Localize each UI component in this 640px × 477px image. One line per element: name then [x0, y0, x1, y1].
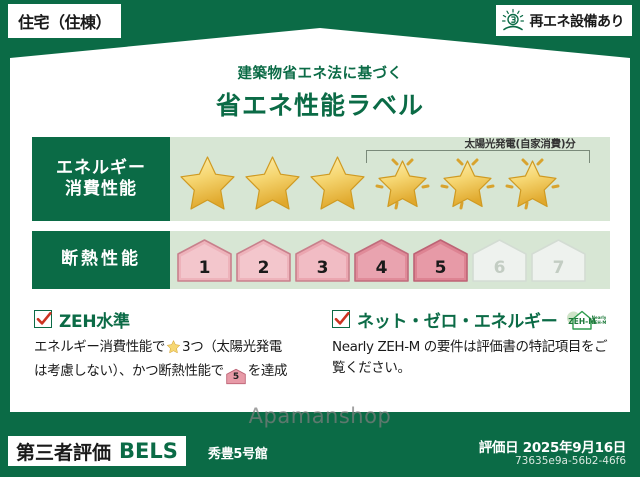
insulation-grade-6: 6	[471, 238, 528, 283]
building-name: 秀豊5号館	[208, 443, 268, 462]
checkbox-checked-icon	[332, 310, 350, 328]
insulation-grade-1: 1	[176, 238, 233, 283]
star-icon-solar	[501, 152, 564, 212]
renewable-equipment-tag: 再エネ設備あり	[496, 5, 633, 36]
star-icon-solar	[436, 152, 499, 212]
solar-generation-note: 太陽光発電(自家消費)分	[405, 136, 635, 151]
net-zero-energy-panel: ネット・ゼロ・エネルギー ZEH-M Nearly ZEH-M Nearly Z…	[332, 308, 616, 379]
inline-star-icon	[166, 339, 181, 361]
zeh-body-part2: 3つ（太陽光発電	[182, 339, 282, 355]
nze-panel-header: ネット・ゼロ・エネルギー ZEH-M Nearly ZEH-M	[332, 308, 616, 330]
insulation-label-text: 断熱性能	[61, 249, 141, 270]
zeh-standard-panel: ZEH水準 エネルギー消費性能で3つ（太陽光発電 は考慮しない）、かつ断熱性能で…	[34, 308, 318, 384]
insulation-row-label: 断熱性能	[32, 231, 170, 289]
insulation-grade-3-value: 3	[317, 258, 329, 278]
zeh-panel-header: ZEH水準	[34, 308, 318, 330]
housing-type-tag: 住宅（住棟）	[8, 4, 121, 38]
star-icon	[241, 152, 304, 212]
renewable-equipment-label: 再エネ設備あり	[530, 11, 625, 31]
insulation-grade-scale: 1 2 3	[176, 236, 587, 284]
insulation-grade-2: 2	[235, 238, 292, 283]
page-title: 省エネ性能ラベル	[10, 86, 630, 122]
insulation-grade-2-value: 2	[258, 258, 270, 278]
energy-performance-label: 住宅（住棟） 再エネ設備あり 建築物省エネ	[0, 0, 640, 477]
bels-en-label: BELS	[119, 439, 178, 463]
nze-panel-body: Nearly ZEH-M の要件は評価書の特記項目をご覧ください。	[332, 337, 616, 379]
star-rating	[176, 151, 616, 213]
zeh-body-part4: を達成	[248, 363, 287, 379]
insulation-grade-4: 4	[353, 238, 410, 283]
insulation-grade-6-value: 6	[494, 258, 506, 278]
insulation-grade-4-value: 4	[376, 258, 388, 278]
sun-icon	[500, 8, 526, 34]
star-icon-solar	[371, 152, 434, 212]
insulation-grade-5-value: 5	[435, 258, 447, 278]
bels-certification-box: 第三者評価 BELS	[8, 436, 186, 466]
nze-panel-title: ネット・ゼロ・エネルギー	[357, 307, 557, 332]
insulation-grade-7: 7	[530, 238, 587, 283]
star-icon	[306, 152, 369, 212]
insulation-grade-3: 3	[294, 238, 351, 283]
checkbox-checked-icon	[34, 310, 52, 328]
zeh-body-part1: エネルギー消費性能で	[34, 339, 165, 355]
evaluation-date: 評価日 2025年9月16日	[479, 436, 626, 456]
svg-text:ZEH-M: ZEH-M	[592, 320, 606, 325]
label-card: 建築物省エネ法に基づく 省エネ性能ラベル エネルギー 消費性能 太陽光発電(自家…	[10, 28, 630, 412]
star-icon	[176, 152, 239, 212]
housing-type-label: 住宅（住棟）	[18, 9, 111, 33]
energy-performance-row-body: 太陽光発電(自家消費)分	[170, 137, 610, 221]
inline-grade-badge: 5	[226, 368, 246, 384]
energy-label-line2: 消費性能	[65, 179, 137, 200]
bels-jp-label: 第三者評価	[16, 438, 111, 465]
energy-label-line1: エネルギー	[56, 158, 146, 179]
inline-grade-value: 5	[226, 368, 246, 386]
energy-performance-row: エネルギー 消費性能 太陽光発電(自家消費)分	[32, 137, 610, 221]
energy-performance-row-label: エネルギー 消費性能	[32, 137, 170, 221]
insulation-grade-1-value: 1	[199, 258, 211, 278]
zeh-body-part3: は考慮しない）、かつ断熱性能で	[34, 363, 224, 379]
label-subtitle: 建築物省エネ法に基づく	[10, 62, 630, 83]
evaluation-id: 73635e9a-56b2-46f6	[515, 455, 626, 467]
insulation-performance-row: 断熱性能 1	[32, 231, 610, 289]
zeh-m-badge-icon: ZEH-M Nearly ZEH-M	[564, 306, 606, 332]
title-block: 建築物省エネ法に基づく 省エネ性能ラベル	[10, 62, 630, 122]
zeh-panel-title: ZEH水準	[59, 307, 130, 332]
insulation-grade-5: 5	[412, 238, 469, 283]
zeh-panel-body: エネルギー消費性能で3つ（太陽光発電 は考慮しない）、かつ断熱性能で5を達成	[34, 337, 318, 384]
footer: 第三者評価 BELS 秀豊5号館 評価日 2025年9月16日 73635e9a…	[0, 431, 640, 477]
insulation-row-body: 1 2 3	[170, 231, 610, 289]
insulation-grade-7-value: 7	[553, 258, 565, 278]
